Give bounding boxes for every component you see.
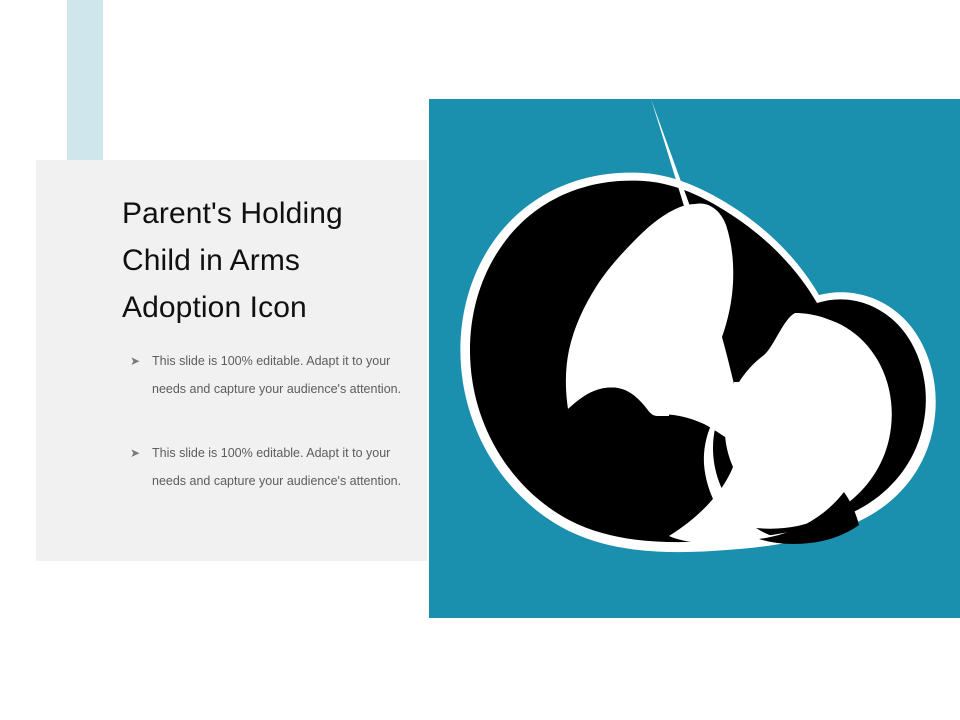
list-item: ➤ This slide is 100% editable. Adapt it …: [130, 347, 410, 403]
arrow-bullet-icon: ➤: [130, 439, 140, 467]
arrow-bullet-icon: ➤: [130, 347, 140, 375]
slide-canvas: Parent's Holding Child in Arms Adoption …: [0, 0, 960, 720]
list-item-text: This slide is 100% editable. Adapt it to…: [152, 347, 410, 403]
parent-holding-child-adoption-icon: [429, 99, 960, 618]
illustration-panel: [429, 99, 960, 618]
page-title: Parent's Holding Child in Arms Adoption …: [122, 190, 422, 331]
bullet-list: ➤ This slide is 100% editable. Adapt it …: [130, 347, 410, 495]
list-item: ➤ This slide is 100% editable. Adapt it …: [130, 439, 410, 495]
list-item-text: This slide is 100% editable. Adapt it to…: [152, 439, 410, 495]
